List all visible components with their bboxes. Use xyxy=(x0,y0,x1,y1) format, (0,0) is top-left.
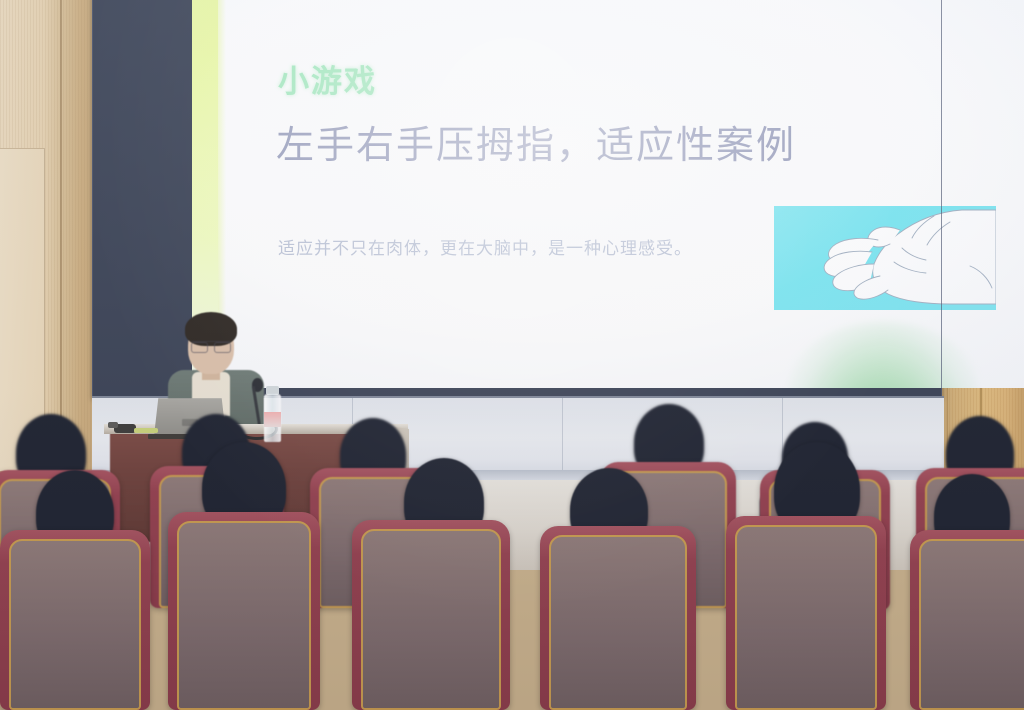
wall-panel-left xyxy=(0,0,104,470)
wall-seam-left xyxy=(60,0,62,470)
slide-green-arc-decoration xyxy=(788,322,978,388)
audience-seat xyxy=(352,520,510,710)
audience-seat xyxy=(0,530,150,710)
glasses-icon xyxy=(191,341,231,351)
lecture-hall-photo: 小游戏 左手右手压拇指，适应性案例 适应并不只在肉体，更在大脑中，是一种心理感受… xyxy=(0,0,1024,710)
slide-heading: 左手右手压拇指，适应性案例 xyxy=(276,114,796,169)
slide-body-text: 适应并不只在肉体，更在大脑中，是一种心理感受。 xyxy=(278,234,692,259)
audience-seat xyxy=(910,530,1024,710)
presentation-slide: 小游戏 左手右手压拇指，适应性案例 适应并不只在肉体，更在大脑中，是一种心理感受… xyxy=(192,0,1024,388)
clasped-hands-illustration xyxy=(774,206,996,310)
audience-seat xyxy=(540,526,696,710)
water-bottle-label xyxy=(264,412,281,427)
audience-seat xyxy=(726,516,886,710)
desk-paper xyxy=(134,428,158,433)
desk-device-2 xyxy=(108,422,118,428)
audience-seat xyxy=(168,512,320,710)
slide-eyebrow-title: 小游戏 xyxy=(278,56,377,101)
